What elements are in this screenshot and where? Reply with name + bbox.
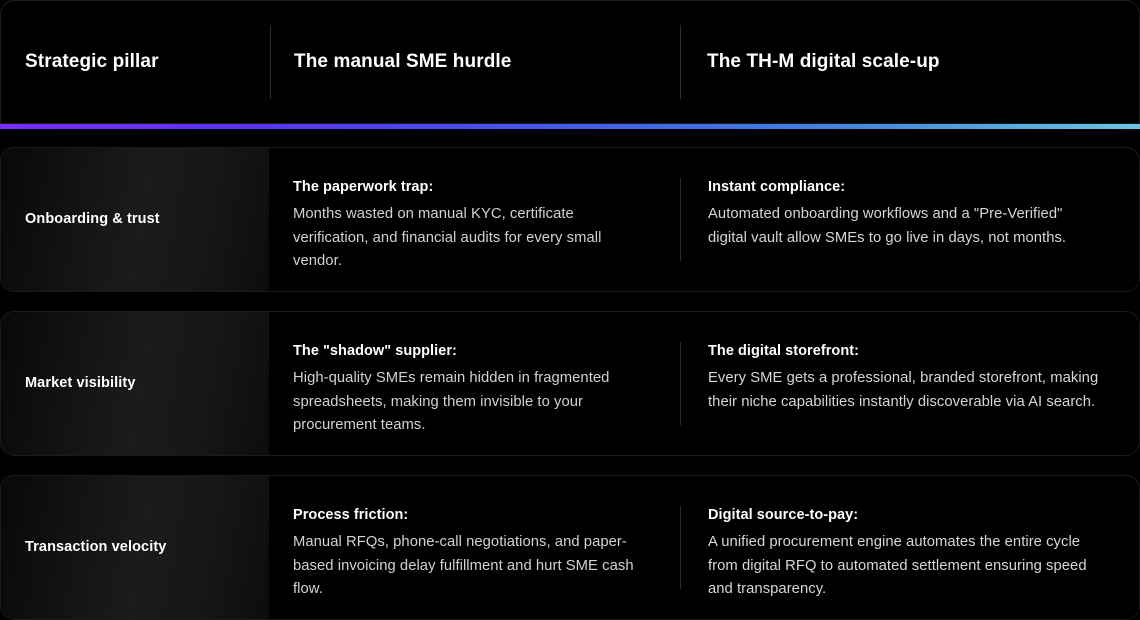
hurdle-body: High-quality SMEs remain hidden in fragm…: [293, 367, 650, 437]
hurdle-heading: The "shadow" supplier:: [293, 342, 650, 360]
pillar-cell: Onboarding & trust: [1, 148, 269, 291]
hurdle-body: Months wasted on manual KYC, certificate…: [293, 203, 650, 273]
scaleup-heading: The digital storefront:: [708, 342, 1105, 360]
hurdle-heading: The paperwork trap:: [293, 178, 650, 196]
pillar-label: Onboarding & trust: [25, 210, 160, 229]
scaleup-heading: Instant compliance:: [708, 178, 1105, 196]
hurdle-cell: Process friction: Manual RFQs, phone-cal…: [269, 476, 680, 619]
gradient-divider: [0, 124, 1140, 129]
scaleup-cell: Digital source-to-pay: A unified procure…: [680, 476, 1139, 619]
pillar-cell: Transaction velocity: [1, 476, 269, 619]
comparison-table: Strategic pillar The manual SME hurdle T…: [0, 0, 1140, 616]
scaleup-body: Every SME gets a professional, branded s…: [708, 367, 1105, 414]
table-row: Transaction velocity Process friction: M…: [0, 475, 1140, 620]
table-body: Onboarding & trust The paperwork trap: M…: [0, 147, 1140, 620]
hurdle-cell: The paperwork trap: Months wasted on man…: [269, 148, 680, 291]
scaleup-cell: Instant compliance: Automated onboarding…: [680, 148, 1139, 291]
scaleup-heading: Digital source-to-pay:: [708, 506, 1105, 524]
pillar-label: Market visibility: [25, 374, 136, 393]
scaleup-cell: The digital storefront: Every SME gets a…: [680, 312, 1139, 455]
pillar-cell: Market visibility: [1, 312, 269, 455]
column-header-manual-sme-hurdle: The manual SME hurdle: [294, 51, 511, 74]
hurdle-cell: The "shadow" supplier: High-quality SMEs…: [269, 312, 680, 455]
table-header-cell-hurdle: The manual SME hurdle: [270, 1, 680, 123]
column-header-thm-digital-scaleup: The TH-M digital scale-up: [707, 51, 940, 74]
pillar-label: Transaction velocity: [25, 538, 166, 557]
table-header-cell-pillar: Strategic pillar: [1, 1, 270, 123]
scaleup-body: A unified procurement engine automates t…: [708, 531, 1105, 601]
table-header-row: Strategic pillar The manual SME hurdle T…: [0, 0, 1140, 124]
table-header-cell-scaleup: The TH-M digital scale-up: [680, 1, 1139, 123]
column-header-strategic-pillar: Strategic pillar: [25, 51, 159, 74]
table-row: Market visibility The "shadow" supplier:…: [0, 311, 1140, 456]
hurdle-heading: Process friction:: [293, 506, 650, 524]
table-row: Onboarding & trust The paperwork trap: M…: [0, 147, 1140, 292]
scaleup-body: Automated onboarding workflows and a "Pr…: [708, 203, 1105, 250]
hurdle-body: Manual RFQs, phone-call negotiations, an…: [293, 531, 650, 601]
